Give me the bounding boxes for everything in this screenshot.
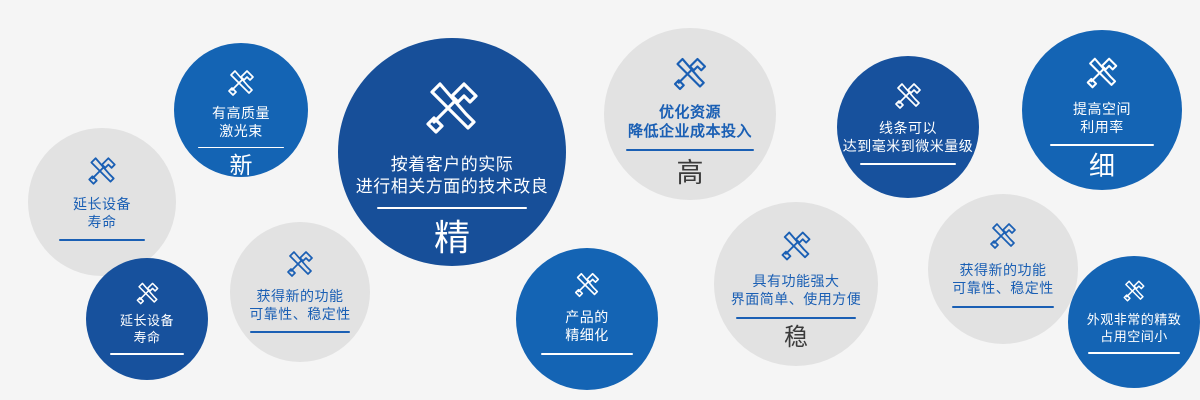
wrench-screwdriver-icon	[987, 220, 1019, 252]
divider	[860, 163, 956, 165]
bubble-custom-improve[interactable]: 按着客户的实际 进行相关方面的技术改良 精	[338, 38, 566, 266]
bubble-space-usage[interactable]: 提高空间 利用率 细	[1022, 30, 1182, 190]
bubble-text: 产品的 精细化	[565, 309, 609, 345]
divider	[1050, 144, 1154, 146]
wrench-screwdriver-icon	[670, 54, 710, 94]
bubble-extend-life-gray[interactable]: 延长设备 寿命	[28, 128, 176, 276]
divider	[110, 353, 184, 355]
bubble-powerful-simple[interactable]: 具有功能强大 界面简单、使用方便 稳	[714, 202, 878, 366]
bubble-keyword: 细	[1089, 153, 1115, 179]
bubble-text: 延长设备 寿命	[120, 313, 174, 346]
bubble-text: 具有功能强大 界面简单、使用方便	[731, 273, 862, 309]
divider	[541, 353, 633, 355]
divider	[250, 331, 350, 333]
bubble-extend-life-blue[interactable]: 延长设备 寿命	[86, 258, 208, 380]
wrench-screwdriver-icon	[1121, 278, 1147, 304]
bubble-product-refine[interactable]: 产品的 精细化	[516, 248, 658, 390]
bubble-text: 获得新的功能 可靠性、稳定性	[249, 288, 351, 324]
divider	[377, 207, 527, 209]
bubble-keyword: 稳	[784, 326, 808, 350]
wrench-screwdriver-icon	[892, 80, 924, 112]
bubble-text: 优化资源 降低企业成本投入	[628, 103, 752, 141]
divider	[1088, 352, 1180, 354]
wrench-screwdriver-icon	[284, 248, 316, 280]
bubble-new-function-left[interactable]: 获得新的功能 可靠性、稳定性	[230, 222, 370, 362]
bubble-new-function-right[interactable]: 获得新的功能 可靠性、稳定性	[928, 194, 1078, 344]
bubble-keyword: 新	[230, 154, 253, 177]
bubble-text: 有高质量 激光束	[212, 105, 270, 141]
bubble-optimize-cost[interactable]: 优化资源 降低企业成本投入 高	[604, 28, 776, 200]
bubble-text: 获得新的功能 可靠性、稳定性	[952, 262, 1054, 298]
wrench-screwdriver-icon	[85, 154, 119, 188]
wrench-screwdriver-icon	[134, 280, 161, 307]
bubble-line-precision[interactable]: 线条可以 达到毫米到微米量级	[837, 56, 979, 198]
bubble-keyword: 精	[434, 220, 470, 256]
divider	[59, 239, 145, 241]
bubble-keyword: 高	[677, 160, 704, 187]
wrench-screwdriver-icon	[420, 76, 484, 140]
wrench-screwdriver-icon	[572, 270, 602, 300]
divider	[626, 149, 754, 151]
bubble-text: 提高空间 利用率	[1073, 101, 1131, 137]
divider	[736, 317, 856, 319]
divider	[952, 306, 1054, 308]
bubble-high-quality[interactable]: 有高质量 激光束 新	[174, 43, 308, 177]
wrench-screwdriver-icon	[1083, 54, 1121, 92]
bubble-compact-design[interactable]: 外观非常的精致 占用空间小	[1068, 256, 1200, 388]
bubble-text: 按着客户的实际 进行相关方面的技术改良	[356, 154, 549, 198]
wrench-screwdriver-icon	[778, 228, 814, 264]
bubble-text: 外观非常的精致 占用空间小	[1087, 312, 1182, 345]
infographic-canvas: 延长设备 寿命 有高质量 激光束 新 延长设备 寿命	[0, 0, 1200, 400]
bubble-text: 延长设备 寿命	[73, 196, 131, 232]
wrench-screwdriver-icon	[225, 67, 257, 99]
bubble-text: 线条可以 达到毫米到微米量级	[843, 120, 974, 156]
